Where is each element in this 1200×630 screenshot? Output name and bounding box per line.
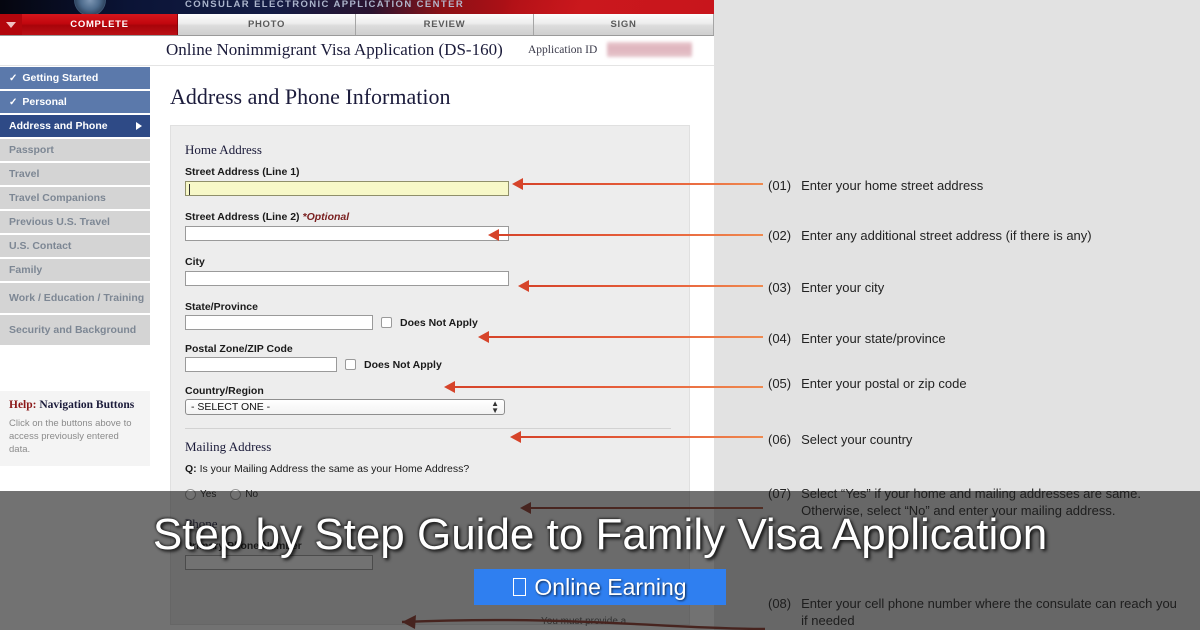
state-does-not-apply-checkbox[interactable] (381, 317, 392, 328)
sidebar-item-label: U.S. Contact (9, 240, 71, 252)
country-region-selected-value: - SELECT ONE - (191, 401, 270, 413)
arrow-head-01 (512, 178, 523, 190)
street-address-2-label-text: Street Address (Line 2) (185, 211, 300, 223)
street-address-1-input[interactable] (185, 181, 509, 196)
tab-review[interactable]: REVIEW (356, 14, 534, 35)
annotation-text: Enter your home street address (801, 177, 1188, 194)
field-country-region: Country/Region - SELECT ONE - ▲▼ (185, 385, 689, 415)
street-address-2-label: Street Address (Line 2) *Optional (185, 211, 689, 223)
arrow-line-07 (531, 507, 763, 509)
annotation-text: Select your country (801, 431, 1188, 448)
country-region-select[interactable]: - SELECT ONE - ▲▼ (185, 399, 505, 415)
spinner-arrows-icon: ▲▼ (491, 400, 499, 414)
sidebar-item-label: Family (9, 264, 42, 276)
annotation-number: (02) (768, 227, 791, 244)
sidebar-item-label: Work / Education / Training (9, 292, 144, 304)
sidebar-item-label: Getting Started (22, 72, 98, 84)
arrow-curve-08 (390, 605, 770, 630)
overlay-badge: Online Earning (474, 569, 726, 605)
mailing-address-radio-group: Yes No (185, 489, 689, 500)
annotation-number: (04) (768, 330, 791, 347)
sidebar-item-label: Security and Background (9, 324, 136, 336)
sidebar-item-family[interactable]: Family (0, 259, 152, 283)
sidebar-item-label: Previous U.S. Travel (9, 216, 110, 228)
help-title: Help: Navigation Buttons (9, 399, 141, 411)
sidebar-item-security-and-background[interactable]: Security and Background (0, 315, 152, 347)
mailing-address-section-title: Mailing Address (185, 439, 689, 455)
arrow-head-04 (478, 331, 489, 343)
state-does-not-apply-label: Does Not Apply (400, 317, 478, 329)
city-input[interactable] (185, 271, 509, 286)
annotation-02: (02) Enter any additional street address… (768, 227, 1192, 244)
sidebar-item-us-contact[interactable]: U.S. Contact (0, 235, 152, 259)
state-province-label: State/Province (185, 301, 689, 313)
us-department-of-state-seal-icon (74, 0, 106, 14)
city-label: City (185, 256, 689, 268)
screenshot-root: CONSULAR ELECTRONIC APPLICATION CENTER C… (0, 0, 1200, 630)
street-address-1-label: Street Address (Line 1) (185, 166, 689, 178)
tab-photo[interactable]: PHOTO (178, 14, 356, 35)
sidebar-item-getting-started[interactable]: ✓ Getting Started (0, 67, 152, 91)
annotation-text: Enter your state/province (801, 330, 1188, 347)
annotation-08: (08) Enter your cell phone number where … (768, 595, 1184, 629)
field-city: City (185, 256, 689, 288)
annotation-06: (06) Select your country (768, 431, 1188, 448)
overlay-title: Step by Step Guide to Family Visa Applic… (0, 510, 1200, 560)
app-title: Online Nonimmigrant Visa Application (DS… (166, 40, 503, 60)
field-street-address-2: Street Address (Line 2) *Optional (185, 211, 689, 243)
sidebar-item-travel-companions[interactable]: Travel Companions (0, 187, 152, 211)
field-street-address-1: Street Address (Line 1) (185, 166, 689, 198)
help-title-text: Navigation Buttons (39, 399, 134, 411)
check-icon: ✓ (9, 97, 17, 108)
annotation-04: (04) Enter your state/province (768, 330, 1188, 347)
missing-glyph-box-icon (513, 578, 526, 596)
annotation-number: (06) (768, 431, 791, 448)
annotation-number: (01) (768, 177, 791, 194)
tab-sign[interactable]: SIGN (534, 14, 714, 35)
check-icon: ✓ (9, 73, 17, 84)
arrow-line-05 (455, 386, 763, 388)
postal-does-not-apply-checkbox[interactable] (345, 359, 356, 370)
question-marker: Q: (185, 463, 197, 475)
tab-complete[interactable]: COMPLETE (22, 14, 178, 35)
arrow-line-01 (523, 183, 763, 185)
arrow-line-02 (499, 234, 763, 236)
app-title-row: Online Nonimmigrant Visa Application (DS… (0, 36, 714, 66)
annotation-text: Enter your postal or zip code (801, 375, 1188, 392)
sidebar-item-address-and-phone[interactable]: Address and Phone (0, 115, 152, 139)
section-divider (185, 428, 671, 429)
mailing-same-yes-label: Yes (200, 489, 216, 500)
progress-tabbar: COMPLETE PHOTO REVIEW SIGN (0, 14, 714, 36)
chevron-down-icon (6, 22, 16, 28)
sidebar-item-label: Address and Phone (9, 120, 108, 132)
annotation-text: Enter your city (801, 279, 1188, 296)
sidebar-item-personal[interactable]: ✓ Personal (0, 91, 152, 115)
street-address-2-input[interactable] (185, 226, 509, 241)
sidebar-nav: ✓ Getting Started ✓ Personal Address and… (0, 67, 152, 466)
arrow-head-02 (488, 229, 499, 241)
field-postal-code: Postal Zone/ZIP Code Does Not Apply (185, 343, 689, 372)
annotation-01: (01) Enter your home street address (768, 177, 1188, 194)
sidebar-item-label: Personal (22, 96, 66, 108)
sidebar-item-label: Passport (9, 144, 54, 156)
arrow-line-06 (521, 436, 763, 438)
arrow-head-03 (518, 280, 529, 292)
mailing-address-question-text: Is your Mailing Address the same as your… (200, 463, 470, 475)
sidebar-item-previous-us-travel[interactable]: Previous U.S. Travel (0, 211, 152, 235)
overlay-badge-label: Online Earning (534, 574, 686, 601)
sidebar-item-work-education-training[interactable]: Work / Education / Training (0, 283, 152, 315)
postal-code-row: Does Not Apply (185, 357, 689, 372)
annotation-05: (05) Enter your postal or zip code (768, 375, 1188, 392)
arrow-line-04 (489, 336, 763, 338)
application-id-value-redacted (607, 42, 692, 57)
annotation-text: Enter any additional street address (if … (801, 227, 1192, 244)
sidebar-item-label: Travel Companions (9, 192, 106, 204)
help-body: Click on the buttons above to access pre… (9, 417, 141, 456)
sidebar-spacer (0, 347, 152, 391)
mailing-same-no-label: No (245, 489, 258, 500)
mailing-address-question: Q: Is your Mailing Address the same as y… (185, 463, 689, 475)
masthead-swoosh (414, 0, 714, 14)
tab-caret-indicator (0, 14, 22, 35)
annotation-number: (08) (768, 595, 791, 629)
postal-code-label: Postal Zone/ZIP Code (185, 343, 689, 355)
postal-code-input[interactable] (185, 357, 337, 372)
annotation-03: (03) Enter your city (768, 279, 1188, 296)
sidebar-item-label: Travel (9, 168, 39, 180)
help-box: Help: Navigation Buttons Click on the bu… (0, 391, 152, 466)
masthead: CONSULAR ELECTRONIC APPLICATION CENTER (0, 0, 714, 14)
page-title: Address and Phone Information (170, 84, 450, 110)
annotation-number: (05) (768, 375, 791, 392)
postal-does-not-apply-label: Does Not Apply (364, 359, 442, 371)
annotation-text: Enter your cell phone number where the c… (801, 595, 1184, 629)
annotation-number: (03) (768, 279, 791, 296)
mailing-same-yes-radio[interactable] (185, 489, 196, 500)
application-id-label: Application ID (528, 44, 597, 56)
sidebar-item-travel[interactable]: Travel (0, 163, 152, 187)
home-address-section-title: Home Address (185, 142, 689, 158)
sidebar-item-passport[interactable]: Passport (0, 139, 152, 163)
chevron-right-icon (136, 122, 142, 130)
field-state-province: State/Province Does Not Apply (185, 301, 689, 330)
arrow-head-06 (510, 431, 521, 443)
mailing-same-no-radio[interactable] (230, 489, 241, 500)
state-province-row: Does Not Apply (185, 315, 689, 330)
help-title-prefix: Help: (9, 399, 36, 411)
state-province-input[interactable] (185, 315, 373, 330)
optional-marker: *Optional (302, 211, 349, 223)
arrow-head-05 (444, 381, 455, 393)
arrow-line-03 (529, 285, 763, 287)
